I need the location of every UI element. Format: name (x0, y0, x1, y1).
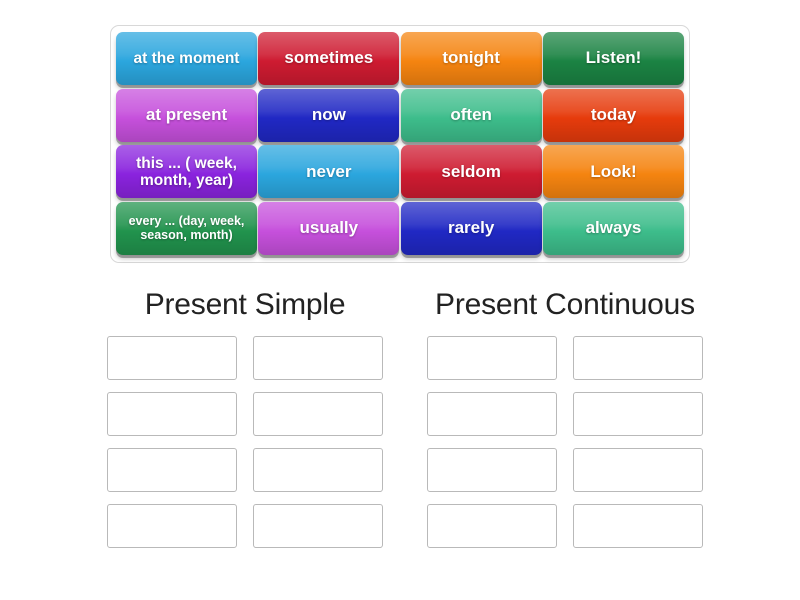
tile-bank: at the momentsometimestonightListen!at p… (110, 25, 690, 263)
drop-slot[interactable] (107, 448, 237, 492)
word-tile[interactable]: Look! (543, 145, 684, 198)
word-tile[interactable]: this ... ( week, month, year) (116, 145, 257, 198)
drop-slot[interactable] (427, 504, 557, 548)
word-tile[interactable]: today (543, 89, 684, 142)
drop-slot[interactable] (573, 448, 703, 492)
category-title: Present Continuous (435, 288, 695, 322)
drop-slot[interactable] (253, 504, 383, 548)
word-tile[interactable]: every ... (day, week, season, month) (116, 202, 257, 255)
word-tile[interactable]: now (258, 89, 399, 142)
word-tile[interactable]: seldom (401, 145, 542, 198)
drop-slot[interactable] (107, 336, 237, 380)
word-tile[interactable]: often (401, 89, 542, 142)
category-columns: Present SimplePresent Continuous (100, 288, 710, 548)
drop-slot-row (107, 336, 383, 380)
word-tile[interactable]: never (258, 145, 399, 198)
word-tile[interactable]: usually (258, 202, 399, 255)
word-tile[interactable]: Listen! (543, 32, 684, 85)
tile-row: at the momentsometimestonightListen! (116, 32, 684, 87)
category-column: Present Continuous (420, 288, 710, 548)
drop-slot[interactable] (573, 336, 703, 380)
group-sort-activity: at the momentsometimestonightListen!at p… (0, 0, 800, 600)
drop-slot-grid (100, 336, 390, 548)
word-tile[interactable]: always (543, 202, 684, 255)
word-tile[interactable]: tonight (401, 32, 542, 85)
drop-slot-grid (420, 336, 710, 548)
drop-slot-row (427, 448, 703, 492)
word-tile[interactable]: sometimes (258, 32, 399, 85)
drop-slot-row (427, 504, 703, 548)
drop-slot[interactable] (253, 336, 383, 380)
drop-slot-row (427, 336, 703, 380)
drop-slot[interactable] (427, 448, 557, 492)
drop-slot[interactable] (253, 392, 383, 436)
drop-slot[interactable] (107, 504, 237, 548)
word-tile[interactable]: rarely (401, 202, 542, 255)
category-title: Present Simple (145, 288, 346, 322)
drop-slot[interactable] (107, 392, 237, 436)
drop-slot[interactable] (427, 392, 557, 436)
drop-slot-row (107, 392, 383, 436)
word-tile[interactable]: at present (116, 89, 257, 142)
tile-row: every ... (day, week, season, month)usua… (116, 202, 684, 257)
drop-slot[interactable] (253, 448, 383, 492)
drop-slot[interactable] (573, 504, 703, 548)
drop-slot[interactable] (427, 336, 557, 380)
drop-slot-row (107, 504, 383, 548)
word-tile[interactable]: at the moment (116, 32, 257, 85)
tile-row: at presentnowoftentoday (116, 89, 684, 144)
drop-slot-row (107, 448, 383, 492)
tile-row: this ... ( week, month, year)neverseldom… (116, 145, 684, 200)
drop-slot[interactable] (573, 392, 703, 436)
drop-slot-row (427, 392, 703, 436)
category-column: Present Simple (100, 288, 390, 548)
